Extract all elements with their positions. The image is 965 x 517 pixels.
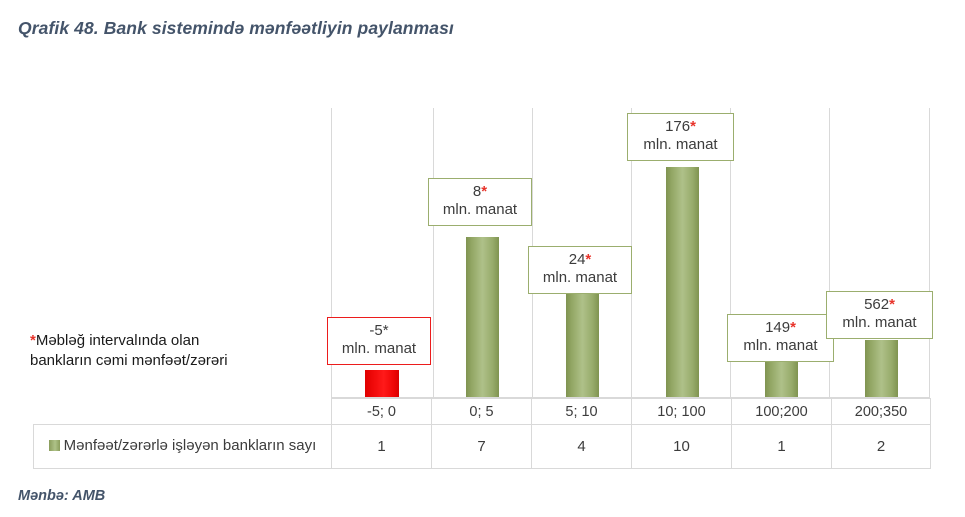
legend-entry: Mənfəət/zərərlə işləyən bankların sayı [34, 425, 332, 469]
data-label-unit: mln. manat [737, 337, 824, 355]
category-cell-2: 5; 10 [532, 399, 632, 425]
table-row-categories: -5; 0 0; 5 5; 10 10; 100 100;200 200;350 [34, 399, 931, 425]
page-title: Qrafik 48. Bank sistemində mənfəətliyin … [18, 18, 454, 39]
asterisk-marker: * [481, 183, 487, 200]
data-label-149: 149* mln. manat [727, 314, 834, 362]
bar-562[interactable] [865, 340, 898, 397]
data-label-176: 176* mln. manat [627, 113, 734, 161]
asterisk-footnote: *Məbləğ intervalında olan bankların cəmi… [30, 331, 322, 372]
bar-176[interactable] [666, 167, 699, 397]
asterisk-marker: * [690, 118, 696, 135]
gridline [929, 108, 930, 398]
data-label-8: 8* mln. manat [428, 178, 532, 226]
asterisk-footnote-line2: bankların cəmi mənfəət/zərəri [30, 352, 228, 369]
category-cell-4: 100;200 [732, 399, 832, 425]
value-cell-4: 1 [732, 425, 832, 469]
data-label-value: 24 [569, 251, 586, 268]
data-label-unit: mln. manat [337, 340, 421, 358]
bar-neg5[interactable] [365, 370, 399, 397]
value-cell-0: 1 [332, 425, 432, 469]
data-label-unit: mln. manat [538, 269, 622, 287]
legend-swatch-icon [49, 440, 60, 451]
bar-8[interactable] [466, 237, 499, 397]
data-label-value: 8 [473, 183, 481, 200]
gridline [433, 108, 434, 398]
data-label-value: -5 [369, 322, 382, 339]
data-label-value: 176 [665, 118, 690, 135]
asterisk-marker: * [585, 251, 591, 268]
value-cell-3: 10 [632, 425, 732, 469]
asterisk-marker: * [889, 296, 895, 313]
bar-24[interactable] [566, 283, 599, 397]
table-row-values: Mənfəət/zərərlə işləyən bankların sayı 1… [34, 425, 931, 469]
value-cell-5: 2 [832, 425, 931, 469]
category-cell-1: 0; 5 [432, 399, 532, 425]
data-label-unit: mln. manat [637, 136, 724, 154]
data-label-562: 562* mln. manat [826, 291, 933, 339]
category-cell-0: -5; 0 [332, 399, 432, 425]
data-label-neg5: -5* mln. manat [327, 317, 431, 365]
asterisk-footnote-line1: Məbləğ intervalında olan [36, 332, 199, 349]
asterisk-marker: * [383, 322, 389, 339]
legend-label: Mənfəət/zərərlə işləyən bankların sayı [64, 437, 317, 454]
chart-data-table: -5; 0 0; 5 5; 10 10; 100 100;200 200;350… [33, 398, 931, 469]
value-cell-1: 7 [432, 425, 532, 469]
data-label-value: 149 [765, 319, 790, 336]
data-label-value: 562 [864, 296, 889, 313]
data-label-unit: mln. manat [836, 314, 923, 332]
data-label-unit: mln. manat [438, 201, 522, 219]
source-note: Mənbə: AMB [18, 488, 105, 504]
asterisk-marker: * [790, 319, 796, 336]
table-corner-cell [34, 399, 332, 425]
value-cell-2: 4 [532, 425, 632, 469]
category-cell-5: 200;350 [832, 399, 931, 425]
category-cell-3: 10; 100 [632, 399, 732, 425]
data-label-24: 24* mln. manat [528, 246, 632, 294]
chart-plot-area: -5* mln. manat 8* mln. manat 24* mln. ma… [331, 108, 930, 398]
bar-149[interactable] [765, 358, 798, 397]
